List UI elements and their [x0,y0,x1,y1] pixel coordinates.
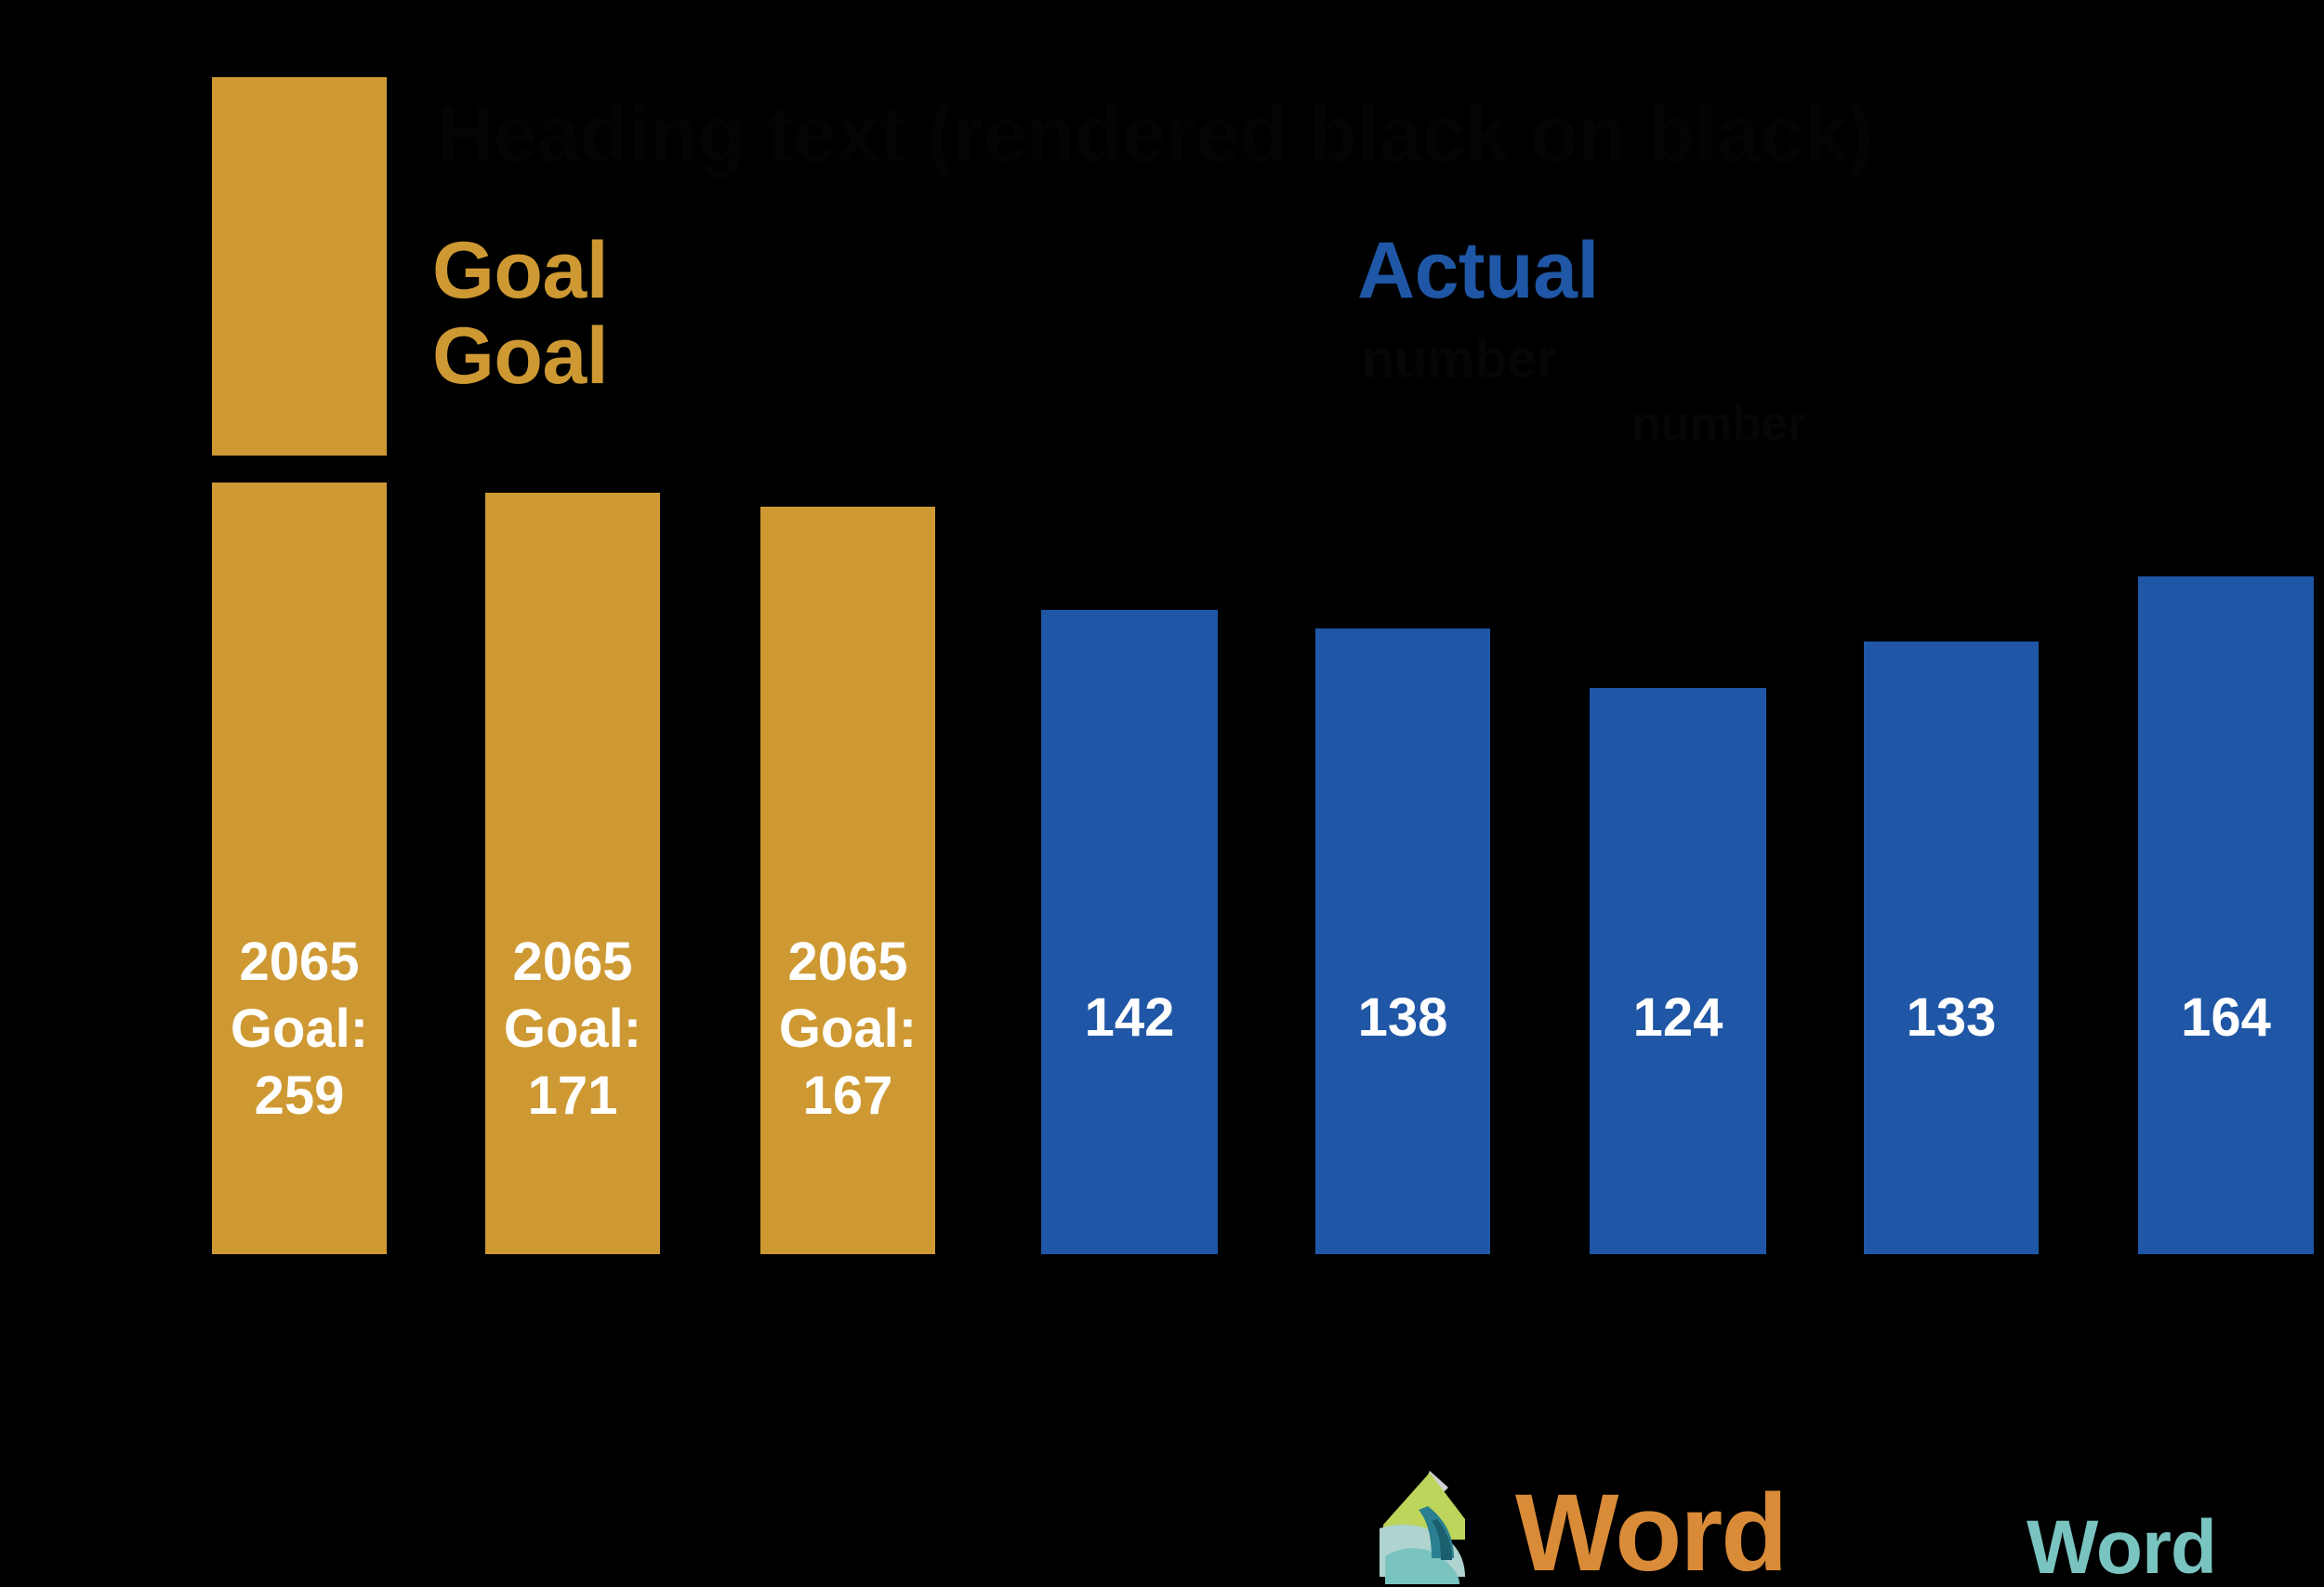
bar-label-line: 2065 [212,929,387,996]
bar-label-line: 124 [1590,985,1766,1051]
bar-label-line: 133 [1864,985,2039,1051]
bar-value-label-8: 164 [2138,985,2314,1051]
bar-label-line: 2065 [485,929,660,996]
bar-label-line: Goal: [212,996,387,1063]
mountain-and-water-logo-icon [1376,1467,1497,1586]
bar-4[interactable]: 142 [1041,610,1218,1254]
bar-value-label-2: 2065Goal:171 [485,929,660,1130]
logo-word-1: Word [1515,1478,1786,1587]
bar-value-label-6: 124 [1590,985,1766,1051]
bar-3[interactable]: 2065Goal:167 [760,507,935,1254]
footer-logo: Word Word Word [1376,1461,2324,1587]
bar-7[interactable]: 133 [1864,641,2039,1254]
bar-label-line: 167 [760,1063,935,1130]
logo-word-2: Word [2027,1510,2216,1586]
bar-value-label-1: 2065Goal:259 [212,929,387,1130]
bar-1[interactable]: 2065Goal:259 [212,483,387,1254]
bar-value-label-4: 142 [1041,985,1218,1051]
bar-6[interactable]: 124 [1590,688,1766,1254]
bar-1-broken-axis-stub[interactable] [212,77,387,456]
chart-canvas: Heading text (rendered black on black) G… [0,0,2324,1587]
bar-value-label-7: 133 [1864,985,2039,1051]
bar-label-line: 164 [2138,985,2314,1051]
bar-label-line: Goal: [485,996,660,1063]
bar-label-line: 259 [212,1063,387,1130]
bar-2[interactable]: 2065Goal:171 [485,493,660,1254]
bar-8[interactable]: 164 [2138,576,2314,1254]
plot-area: 2065Goal:2592065Goal:1712065Goal:1671421… [0,0,2324,1587]
bar-label-line: 138 [1315,985,1490,1051]
bar-5[interactable]: 138 [1315,628,1490,1254]
bar-label-line: Goal: [760,996,935,1063]
bar-label-line: 2065 [760,929,935,996]
bar-value-label-5: 138 [1315,985,1490,1051]
bar-value-label-3: 2065Goal:167 [760,929,935,1130]
bar-label-line: 142 [1041,985,1218,1051]
bar-label-line: 171 [485,1063,660,1130]
